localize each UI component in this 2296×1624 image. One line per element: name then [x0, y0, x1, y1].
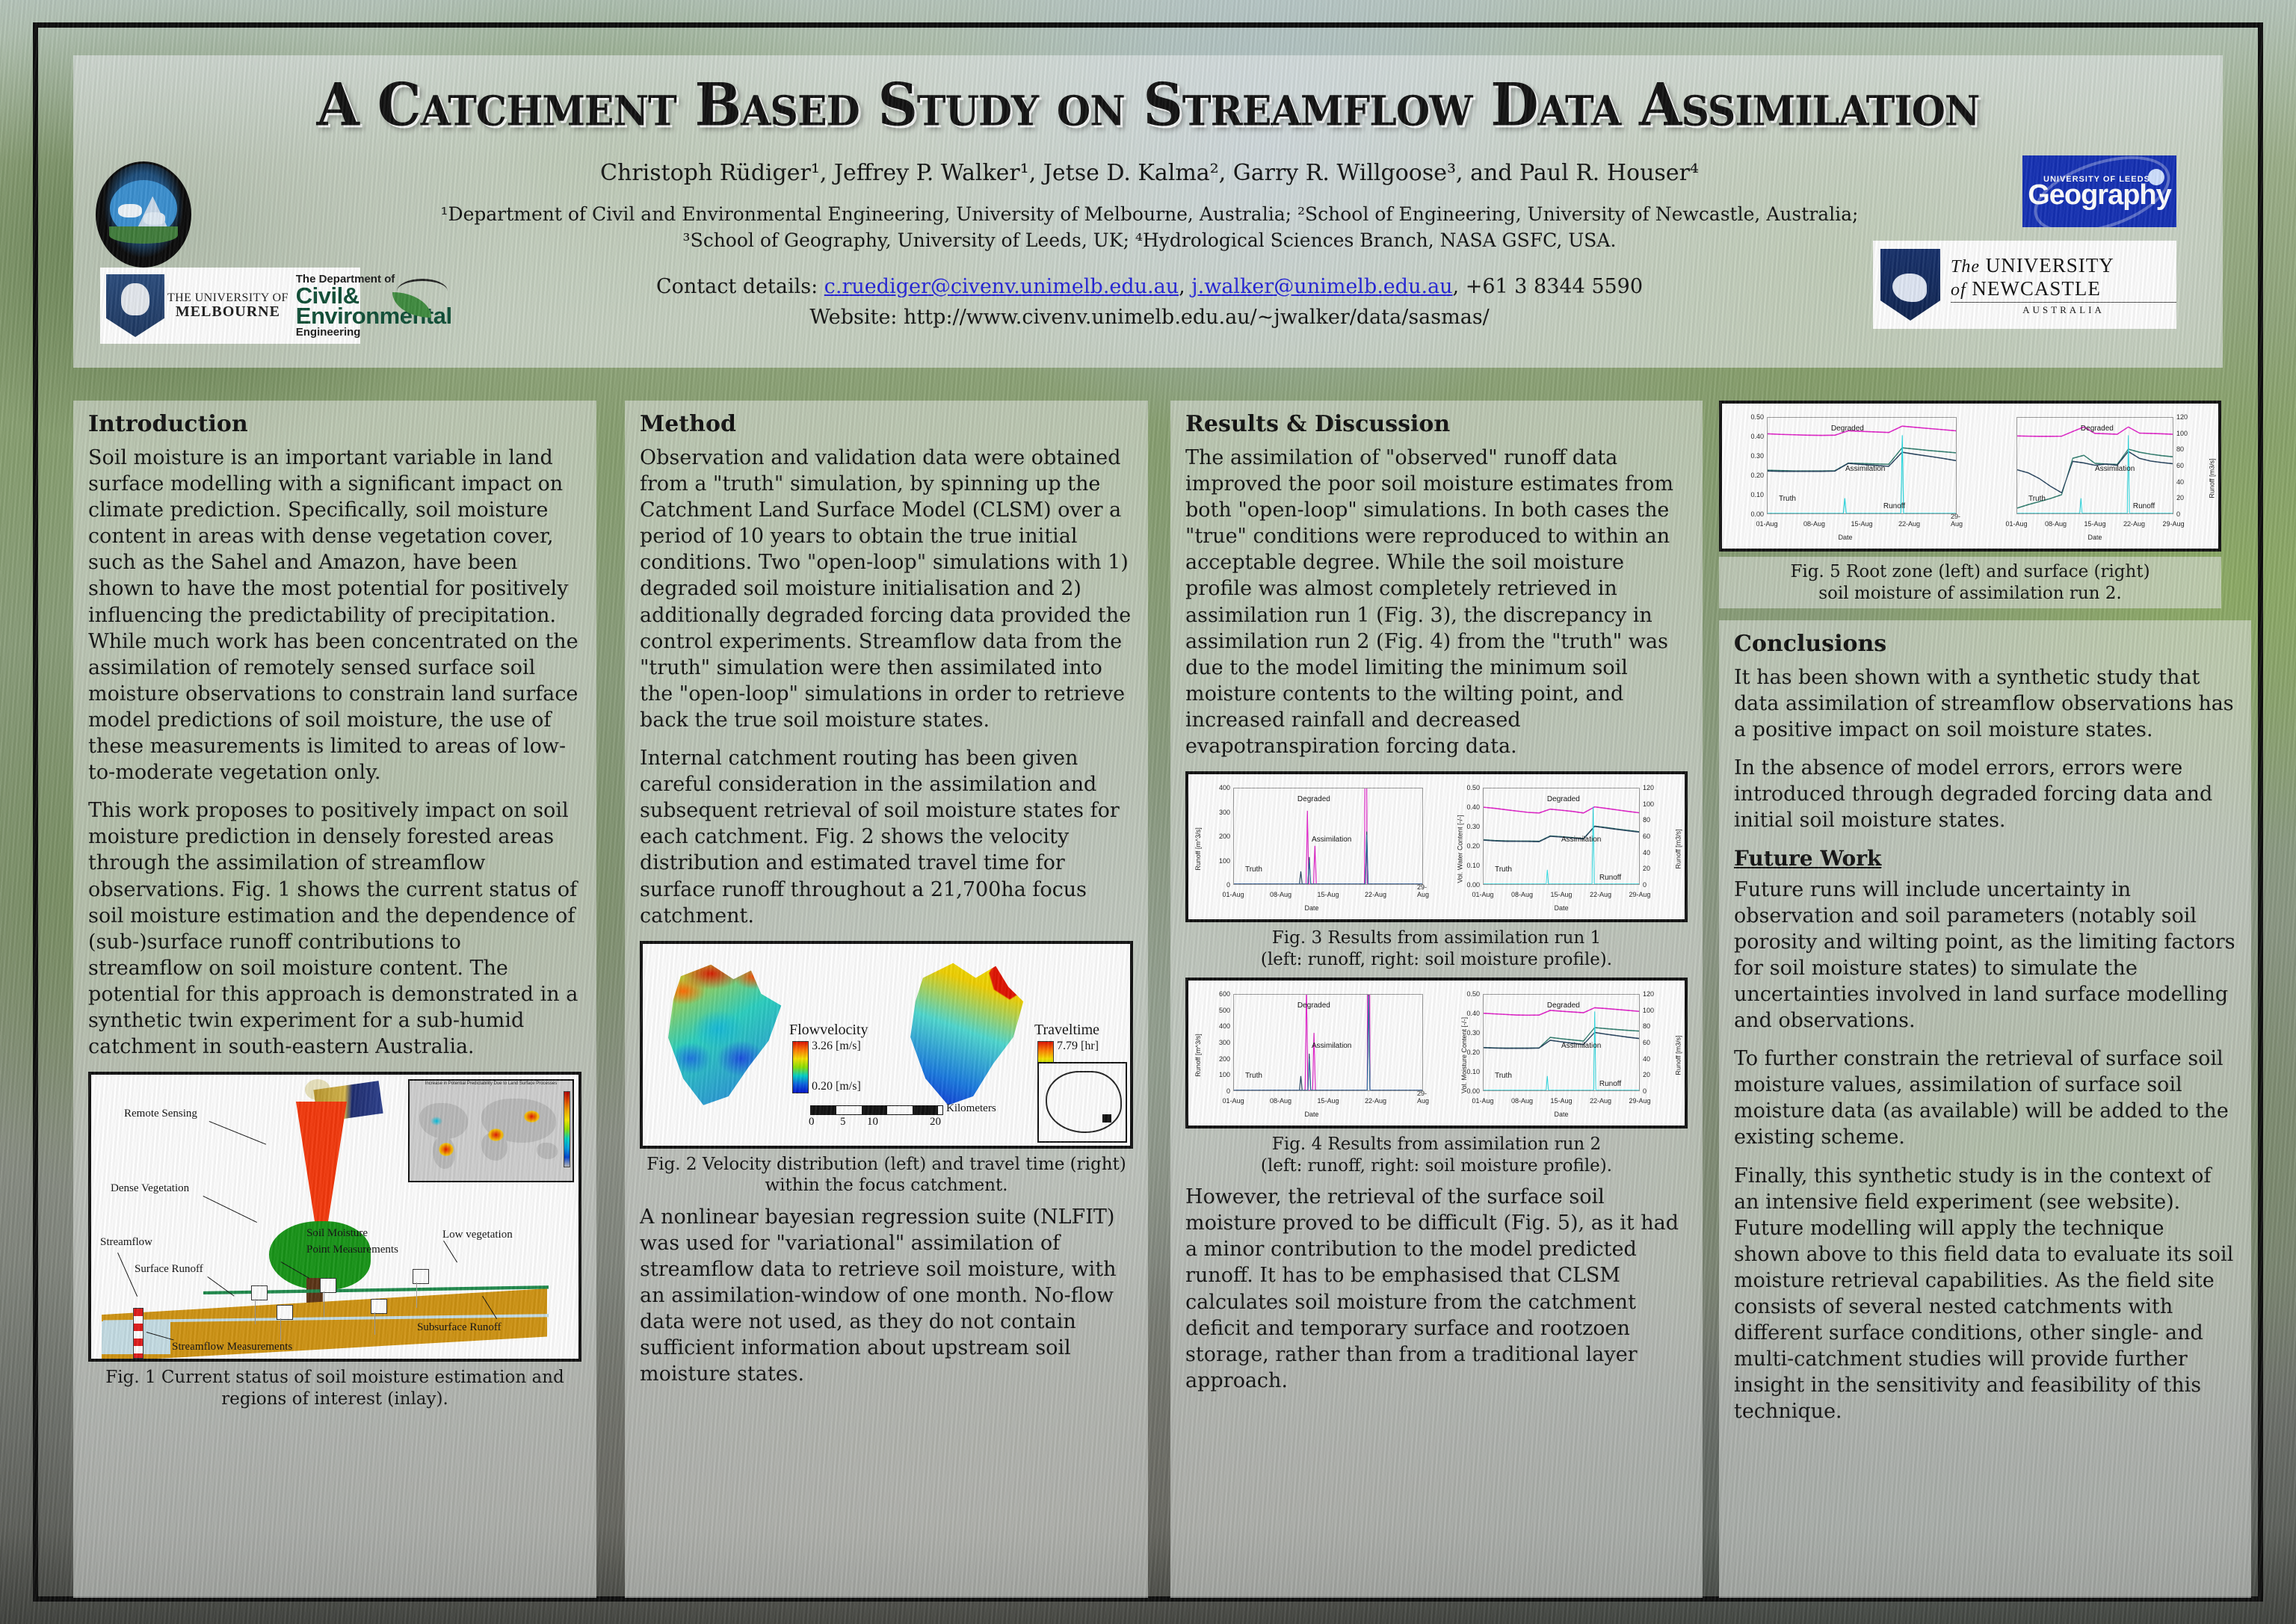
annotation-degraded: Degraded	[1831, 424, 1864, 433]
affiliations: ¹Department of Civil and Environmental E…	[253, 202, 2046, 253]
x-tick: 15-Aug	[1550, 1097, 1572, 1105]
soil-sensor-2	[320, 1278, 336, 1293]
y-tick: 100	[1197, 857, 1230, 865]
x-tick: 15-Aug	[1550, 891, 1572, 898]
x-tick: 08-Aug	[1270, 891, 1291, 898]
y-tick: 0	[1197, 881, 1230, 889]
chart-fig4-runoff: 010020030040050060001-Aug08-Aug15-Aug22-…	[1193, 988, 1431, 1123]
australia-outline-icon	[1046, 1071, 1121, 1133]
y-tick: 0.50	[1731, 413, 1764, 421]
x-tick: 22-Aug	[1590, 891, 1611, 898]
future-work-paragraph-3: Finally, this synthetic study is in the …	[1734, 1163, 2236, 1425]
x-tick: 15-Aug	[1851, 520, 1872, 528]
melbourne-crest-icon	[106, 274, 164, 337]
university-of-melbourne-logo: THE UNIVERSITY OF MELBOURNE The Departme…	[100, 268, 360, 344]
annotation-runoff: Runoff	[2133, 502, 2155, 510]
y2-tick: 100	[2176, 430, 2209, 437]
soil-sensor-5	[413, 1269, 429, 1284]
label-soil-moisture-points-2: Point Measurements	[306, 1244, 398, 1256]
y2-tick: 100	[1643, 1007, 1676, 1014]
figure-5-block: 0.000.100.200.300.400.5001-Aug08-Aug15-A…	[1719, 401, 2221, 616]
label-dense-vegetation: Dense Vegetation	[111, 1182, 189, 1195]
x-tick: 29-Aug	[2162, 520, 2184, 528]
intro-paragraph-1: Soil moisture is an important variable i…	[88, 445, 581, 785]
y2-tick: 40	[1643, 1055, 1676, 1063]
y-tick: 100	[1197, 1071, 1230, 1078]
newcastle-crest-icon	[1880, 249, 1940, 321]
column-introduction: Introduction Soil moisture is an importa…	[73, 401, 596, 1598]
x-tick: 08-Aug	[1803, 520, 1825, 528]
y-tick: 400	[1197, 784, 1230, 791]
y2-axis-label: Runoff [m3/s]	[1674, 829, 1682, 868]
y2-tick: 80	[1643, 1022, 1676, 1030]
annotation-degraded: Degraded	[2081, 424, 2114, 433]
inlay-hotspot-amazon	[439, 1143, 454, 1155]
x-tick: 29-Aug	[1417, 1090, 1429, 1105]
y-axis-label: Runoff [m^3/s]	[1194, 827, 1202, 871]
y2-tick: 60	[2176, 462, 2209, 469]
melbourne-wordmark: THE UNIVERSITY OF MELBOURNE	[167, 291, 288, 321]
label-streamflow-measurements: Streamflow Measurements	[172, 1341, 292, 1353]
soil-sensor-probe-3	[280, 1318, 281, 1341]
y-tick: 200	[1197, 833, 1230, 840]
annotation-truth: Truth	[1245, 1072, 1262, 1080]
annotation-assimilation: Assimilation	[1561, 1042, 1601, 1050]
annotation-truth: Truth	[1245, 865, 1262, 874]
y-tick: 0.10	[1731, 491, 1764, 498]
y2-tick: 0	[2176, 510, 2209, 518]
y2-tick: 20	[1643, 865, 1676, 872]
inlay-landmass-americas	[419, 1103, 468, 1139]
method-paragraph-2: Internal catchment routing has been give…	[640, 745, 1133, 929]
annotation-degraded: Degraded	[1547, 1001, 1580, 1010]
email-link-walker[interactable]: j.walker@unimelb.edu.au	[1191, 275, 1452, 298]
soil-sensor-probe-2	[324, 1291, 324, 1317]
email-separator: ,	[1179, 275, 1191, 298]
figure-3-charts: 010020030040001-Aug08-Aug15-Aug22-Aug29-…	[1185, 771, 1688, 922]
flowvelocity-max-label: 3.26 [m/s]	[812, 1040, 861, 1053]
figure-2-caption: Fig. 2 Velocity distribution (left) and …	[640, 1154, 1133, 1197]
soil-sensor-probe-1	[255, 1299, 256, 1324]
column-conclusions: Conclusions It has been shown with a syn…	[1719, 620, 2251, 1598]
chart-fig4-moisture: 0.000.100.200.300.400.500204060801001200…	[1442, 988, 1680, 1123]
annotation-degraded: Degraded	[1547, 795, 1580, 803]
website-line: Website: http://www.civenv.unimelb.edu.a…	[297, 303, 2002, 333]
figure-1-caption: Fig. 1 Current status of soil moisture e…	[88, 1367, 581, 1410]
stream-gauge-icon	[133, 1308, 143, 1359]
figure-1-diagram: Increase in Potential Predictability Due…	[88, 1072, 581, 1362]
x-tick: 15-Aug	[1317, 1097, 1339, 1105]
contact-line: Contact details: c.ruediger@civenv.unime…	[297, 272, 2002, 303]
label-low-vegetation: Low vegetation	[442, 1229, 513, 1241]
annotation-assimilation: Assimilation	[1312, 836, 1351, 844]
annotation-truth: Truth	[1495, 865, 1512, 874]
australia-locator-map	[1037, 1062, 1127, 1143]
x-tick: 08-Aug	[1511, 1097, 1533, 1105]
nasa-gsfc-logo	[96, 161, 191, 268]
y2-axis-label: Runoff [m3/s]	[1674, 1035, 1682, 1075]
annotation-runoff: Runoff	[1599, 1080, 1621, 1088]
figure-4-caption-line-1: Fig. 4 Results from assimilation run 2	[1185, 1134, 1688, 1155]
y2-tick: 120	[1643, 990, 1676, 998]
figure-5-caption-line-2: soil moisture of assimilation run 2.	[1719, 583, 2221, 605]
x-tick: 01-Aug	[1756, 520, 1777, 528]
figure-5-charts: 0.000.100.200.300.400.5001-Aug08-Aug15-A…	[1719, 401, 2221, 552]
y2-tick: 120	[2176, 413, 2209, 421]
soil-sensor-1	[251, 1285, 268, 1300]
y-tick: 0	[1197, 1087, 1230, 1095]
label-traveltime: Traveltime	[1034, 1022, 1099, 1039]
y-tick: 0.50	[1447, 784, 1480, 791]
flowvelocity-min-label: 0.20 [m/s]	[812, 1080, 861, 1093]
y2-tick: 40	[2176, 478, 2209, 486]
email-link-ruediger[interactable]: c.ruediger@civenv.unimelb.edu.au	[824, 275, 1179, 298]
label-remote-sensing: Remote Sensing	[124, 1108, 197, 1120]
inlay-hotspot-sahel	[488, 1129, 504, 1140]
intro-paragraph-2: This work proposes to positively impact …	[88, 797, 581, 1060]
y2-axis-label: Runoff [m3/s]	[2208, 458, 2215, 498]
study-site-marker	[1102, 1114, 1111, 1123]
poster-background: A Catchment Based Study on Streamflow Da…	[0, 0, 2296, 1624]
melbourne-line-2: MELBOURNE	[167, 304, 288, 321]
x-tick: 22-Aug	[1590, 1097, 1611, 1105]
label-flowvelocity: Flowvelocity	[789, 1022, 868, 1039]
annotation-degraded: Degraded	[1297, 795, 1330, 803]
results-paragraph-1: The assimilation of "observed" runoff da…	[1185, 445, 1688, 759]
y-tick: 0.20	[1731, 472, 1764, 479]
y-tick: 300	[1197, 1039, 1230, 1046]
figure-4-caption: Fig. 4 Results from assimilation run 2 (…	[1185, 1134, 1688, 1176]
y-tick: 0.30	[1731, 452, 1764, 460]
y-tick: 0.00	[1731, 510, 1764, 518]
inlay-landmass-australia	[537, 1143, 558, 1158]
x-tick: 22-Aug	[1365, 1097, 1386, 1105]
y-tick: 0.40	[1731, 433, 1764, 440]
soil-sensor-3	[277, 1305, 293, 1320]
x-tick: 29-Aug	[1629, 891, 1650, 898]
heading-future-work: Future Work	[1734, 846, 2236, 871]
x-tick: 08-Aug	[2045, 520, 2067, 528]
series-degraded	[1484, 807, 1639, 813]
newcastle-the: The	[1951, 257, 1980, 277]
y2-tick: 40	[1643, 849, 1676, 856]
x-tick: 29-Aug	[1951, 513, 1963, 528]
scale-tick-5: 5	[840, 1116, 846, 1129]
y2-tick: 0	[1643, 881, 1676, 889]
y-tick: 0.40	[1447, 803, 1480, 811]
annotation-runoff: Runoff	[1599, 874, 1621, 882]
x-axis-label: Date	[1193, 1111, 1431, 1118]
label-soil-moisture-points-1: Soil Moisture	[306, 1227, 368, 1240]
y2-tick: 80	[2176, 445, 2209, 453]
x-axis-label: Date	[1442, 904, 1680, 912]
contact-label: Contact details:	[656, 275, 824, 298]
arrow-dense-vegetation	[203, 1196, 257, 1223]
x-tick: 08-Aug	[1511, 891, 1533, 898]
y-tick: 300	[1197, 809, 1230, 816]
y2-tick: 100	[1643, 800, 1676, 808]
y-axis-label: Runoff [m^3/s]	[1194, 1034, 1202, 1077]
y-tick: 200	[1197, 1055, 1230, 1063]
figure-3-caption-line-2: (left: runoff, right: soil moisture prof…	[1185, 949, 1688, 971]
soil-sensor-probe-4	[374, 1312, 375, 1335]
university-of-leeds-geography-logo: UNIVERSITY OF LEEDS Geography	[2022, 155, 2176, 227]
annotation-runoff: Runoff	[1883, 502, 1905, 510]
annotation-degraded: Degraded	[1297, 1001, 1330, 1010]
x-tick: 22-Aug	[2123, 520, 2145, 528]
conclusions-paragraph-1: It has been shown with a synthetic study…	[1734, 664, 2236, 743]
x-axis-label: Date	[1193, 904, 1431, 912]
y-axis-label: Vol. Moisture Content [-/-]	[1460, 1017, 1468, 1093]
figure-3-caption: Fig. 3 Results from assimilation run 1 (…	[1185, 927, 1688, 970]
column-results: Results & Discussion The assimilation of…	[1170, 401, 1703, 1598]
x-tick: 15-Aug	[2084, 520, 2105, 528]
chart-fig5-surface: 02040608010012001-Aug08-Aug15-Aug22-Aug2…	[1976, 411, 2214, 546]
x-axis-label: Date	[1976, 534, 2214, 541]
chart-fig5-rootzone: 0.000.100.200.300.400.5001-Aug08-Aug15-A…	[1726, 411, 1964, 546]
newcastle-line-2: NEWCASTLE	[1972, 277, 2100, 300]
results-paragraph-2: However, the retrieval of the surface so…	[1185, 1184, 1688, 1394]
heading-introduction: Introduction	[88, 411, 581, 437]
travel-time-map	[903, 960, 1028, 1108]
y-axis-label: Vol. Water Content [-/-]	[1457, 815, 1464, 883]
figure-1-inlay-world-map: Increase in Potential Predictability Due…	[408, 1079, 574, 1182]
y2-tick: 0	[1643, 1087, 1676, 1095]
label-surface-runoff: Surface Runoff	[135, 1263, 203, 1276]
phone-number: , +61 3 8344 5590	[1453, 275, 1644, 298]
column-method: Method Observation and validation data w…	[625, 401, 1148, 1598]
x-tick: 29-Aug	[1417, 883, 1429, 898]
melbourne-line-1: THE UNIVERSITY OF	[167, 291, 288, 304]
annotation-assimilation: Assimilation	[2095, 465, 2135, 473]
soil-sensor-probe-5	[416, 1282, 417, 1308]
inlay-title: Increase in Potential Predictability Due…	[410, 1081, 573, 1086]
y2-tick: 60	[1643, 833, 1676, 840]
x-axis-label: Date	[1726, 534, 1964, 541]
annotation-truth: Truth	[1779, 495, 1796, 503]
label-subsurface-runoff: Subsurface Runoff	[417, 1321, 502, 1334]
y-tick: 600	[1197, 990, 1230, 998]
x-tick: 01-Aug	[1222, 1097, 1244, 1105]
author-list: Christoph Rüdiger¹, Jeffrey P. Walker¹, …	[297, 160, 2002, 186]
x-tick: 01-Aug	[1472, 891, 1493, 898]
flow-velocity-map	[661, 962, 786, 1108]
figure-5-caption-line-1: Fig. 5 Root zone (left) and surface (rig…	[1719, 561, 2221, 583]
scale-tick-20: 20	[930, 1116, 941, 1129]
newcastle-line-3: AUSTRALIA	[1951, 302, 2176, 316]
inlay-colorbar	[564, 1091, 570, 1167]
affiliation-line-2: ³School of Geography, University of Leed…	[253, 228, 2046, 254]
future-work-paragraph-2: To further constrain the retrieval of su…	[1734, 1046, 2236, 1150]
y-tick: 400	[1197, 1022, 1230, 1030]
newcastle-of: of	[1951, 280, 1966, 300]
y-tick: 0.40	[1447, 1010, 1480, 1017]
conclusions-paragraph-2: In the absence of model errors, errors w…	[1734, 755, 2236, 833]
annotation-truth: Truth	[2028, 495, 2046, 503]
chart-fig3-moisture: 0.000.100.200.300.400.500204060801001200…	[1442, 782, 1680, 916]
figure-5-caption: Fig. 5 Root zone (left) and surface (rig…	[1719, 557, 2221, 608]
chart-fig3-runoff: 010020030040001-Aug08-Aug15-Aug22-Aug29-…	[1193, 782, 1431, 916]
x-tick: 29-Aug	[1629, 1097, 1650, 1105]
y2-tick: 20	[1643, 1071, 1676, 1078]
scale-tick-0: 0	[809, 1116, 815, 1129]
heading-conclusions: Conclusions	[1734, 631, 2236, 657]
x-tick: 22-Aug	[1365, 891, 1386, 898]
figure-4-caption-line-2: (left: runoff, right: soil moisture prof…	[1185, 1155, 1688, 1177]
heading-results: Results & Discussion	[1185, 411, 1688, 437]
annotation-assimilation: Assimilation	[1845, 465, 1885, 473]
x-tick: 01-Aug	[1222, 891, 1244, 898]
scale-tick-10: 10	[867, 1116, 878, 1129]
x-tick: 08-Aug	[1270, 1097, 1291, 1105]
y2-tick: 80	[1643, 816, 1676, 824]
traveltime-max-label: 7.79 [hr]	[1057, 1040, 1099, 1053]
scale-bar	[810, 1105, 943, 1115]
scale-bar-unit: Kilometers	[946, 1102, 996, 1115]
civil-environmental-wordmark: The Department of Civil& Environmental E…	[288, 273, 452, 339]
y2-tick: 20	[2176, 494, 2209, 501]
newcastle-wordmark: The UNIVERSITY of NEWCASTLE AUSTRALIA	[1940, 254, 2176, 316]
figure-4-charts: 010020030040050060001-Aug08-Aug15-Aug22-…	[1185, 978, 1688, 1129]
y-tick: 0.50	[1447, 990, 1480, 998]
figure-2-maps: Flowvelocity 3.26 [m/s] 0.20 [m/s] Trave…	[640, 941, 1133, 1149]
y2-tick: 120	[1643, 784, 1676, 791]
soil-sensor-4	[371, 1299, 387, 1314]
affiliation-line-1: ¹Department of Civil and Environmental E…	[253, 202, 2046, 228]
heading-method: Method	[640, 411, 1133, 437]
leeds-geography-text: Geography	[2028, 179, 2171, 212]
arrow-remote-sensing	[209, 1121, 266, 1145]
method-paragraph-3: A nonlinear bayesian regression suite (N…	[640, 1204, 1133, 1388]
x-axis-label: Date	[1442, 1111, 1680, 1118]
flowvelocity-colorbar	[792, 1041, 809, 1093]
label-streamflow: Streamflow	[100, 1236, 152, 1249]
arrow-low-vegetation	[443, 1241, 457, 1262]
y-tick: 500	[1197, 1007, 1230, 1014]
y2-tick: 60	[1643, 1039, 1676, 1046]
x-tick: 01-Aug	[1472, 1097, 1493, 1105]
annotation-assimilation: Assimilation	[1561, 836, 1601, 844]
future-work-paragraph-1: Future runs will include uncertainty in …	[1734, 877, 2236, 1034]
annotation-assimilation: Assimilation	[1312, 1042, 1351, 1050]
page-title: A Catchment Based Study on Streamflow Da…	[73, 71, 2223, 139]
annotation-truth: Truth	[1495, 1072, 1512, 1080]
x-tick: 15-Aug	[1317, 891, 1339, 898]
contact-block: Contact details: c.ruediger@civenv.unime…	[297, 272, 2002, 333]
x-tick: 22-Aug	[1898, 520, 1920, 528]
x-tick: 01-Aug	[2005, 520, 2027, 528]
university-of-newcastle-logo: The UNIVERSITY of NEWCASTLE AUSTRALIA	[1873, 241, 2176, 329]
newcastle-line-1: UNIVERSITY	[1986, 254, 2114, 277]
figure-3-caption-line-1: Fig. 3 Results from assimilation run 1	[1185, 927, 1688, 949]
method-paragraph-1: Observation and validation data were obt…	[640, 445, 1133, 733]
